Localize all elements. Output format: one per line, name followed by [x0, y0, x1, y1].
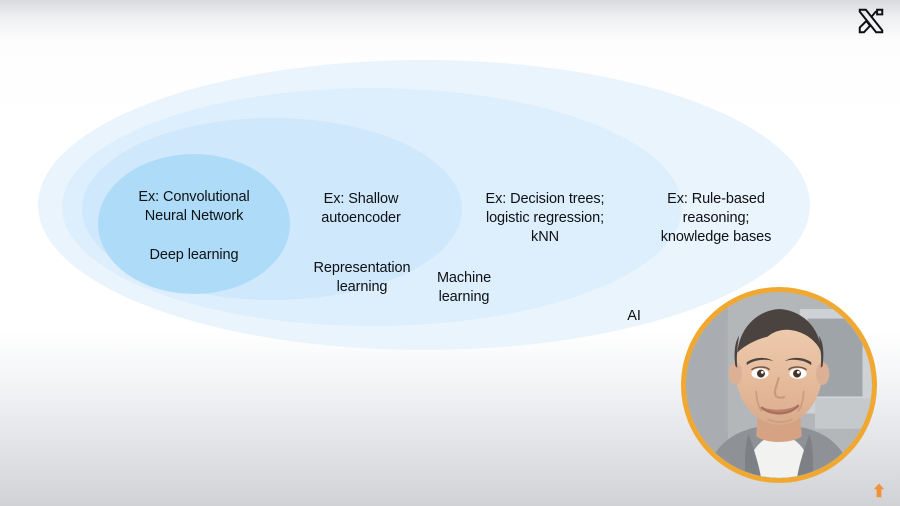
x-monogram-logo-icon — [856, 6, 886, 36]
label-ai: AI — [598, 307, 670, 326]
label-machine-learning: Machine learning — [398, 269, 530, 307]
example-representation-learning: Ex: Shallow autoencoder — [280, 190, 442, 228]
example-deep-learning: Ex: Convolutional Neural Network — [104, 188, 284, 226]
avatar-photo — [686, 292, 872, 478]
presentation-slide: Ex: Convolutional Neural Network Deep le… — [0, 0, 900, 506]
example-machine-learning: Ex: Decision trees; logistic regression;… — [450, 190, 640, 247]
example-ai: Ex: Rule-based reasoning; knowledge base… — [632, 190, 800, 247]
presenter-webcam-avatar — [681, 287, 877, 483]
upload-arrow-icon[interactable] — [871, 482, 887, 499]
